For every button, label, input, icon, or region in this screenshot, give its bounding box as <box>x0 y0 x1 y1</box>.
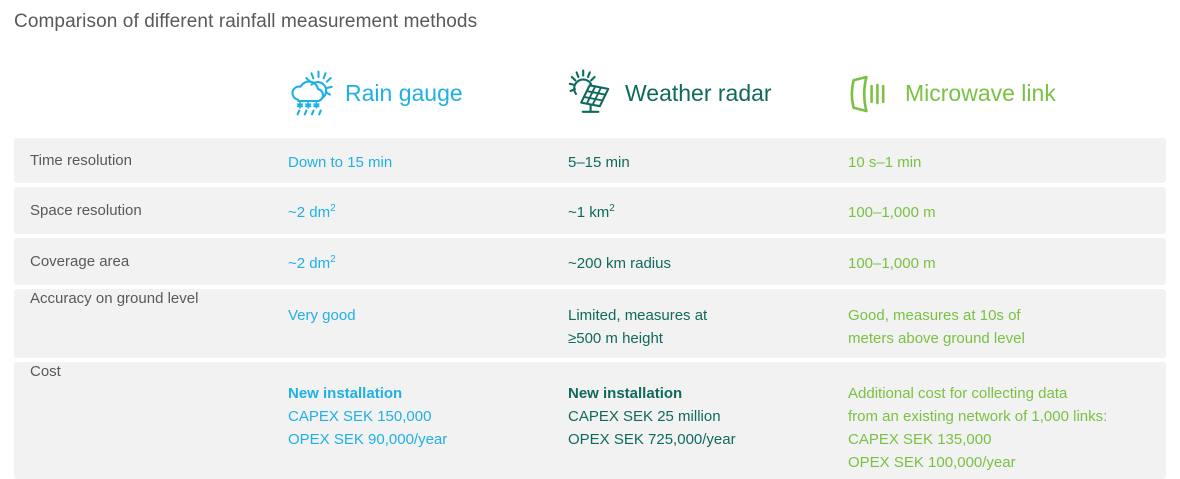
cell-line: Very good <box>288 304 564 327</box>
comparison-table-page: Comparison of different rainfall measure… <box>0 0 1180 478</box>
row-label: Coverage area <box>30 238 286 272</box>
page-title: Comparison of different rainfall measure… <box>14 10 477 34</box>
cell-line: CAPEX SEK 25 million <box>568 405 844 428</box>
cell-line: New installation <box>568 382 844 405</box>
cell-microwave-link: 100–1,000 m <box>848 187 1160 224</box>
column-header-microwave-link: Microwave link <box>845 56 1056 130</box>
cell-line: ≥500 m height <box>568 327 844 350</box>
column-header-weather-radar: Weather radar <box>565 56 772 130</box>
solar-panel-sun-icon <box>565 68 615 118</box>
cell-rain-gauge: Very good <box>288 289 564 327</box>
row-label: Cost <box>30 362 286 382</box>
column-header-label-weather-radar: Weather radar <box>625 80 772 107</box>
cell-line: ~2 dm2 <box>288 252 564 275</box>
table-row: Space resolution ~2 dm2 ~1 km2 100–1,000… <box>14 187 1166 234</box>
cell-weather-radar: Limited, measures at≥500 m height <box>568 289 844 350</box>
column-header-label-microwave-link: Microwave link <box>905 80 1056 107</box>
cell-line: CAPEX SEK 150,000 <box>288 405 564 428</box>
cell-line: ~2 dm2 <box>288 201 564 224</box>
column-header-label-rain-gauge: Rain gauge <box>345 80 463 107</box>
cell-line: ~200 km radius <box>568 252 844 275</box>
antenna-signal-icon <box>845 68 895 118</box>
cell-line: 100–1,000 m <box>848 252 1160 275</box>
sun-cloud-rain-icon <box>285 68 335 118</box>
column-header-rain-gauge: Rain gauge <box>285 56 463 130</box>
row-label: Space resolution <box>30 187 286 221</box>
cell-line: meters above ground level <box>848 327 1160 350</box>
table-row: Time resolution Down to 15 min 5–15 min … <box>14 138 1166 183</box>
cell-rain-gauge: New installationCAPEX SEK 150,000OPEX SE… <box>288 362 564 451</box>
cell-rain-gauge: ~2 dm2 <box>288 238 564 275</box>
table-row: Accuracy on ground level Very good Limit… <box>14 289 1166 358</box>
cell-line: 5–15 min <box>568 151 844 174</box>
cell-rain-gauge: Down to 15 min <box>288 138 564 174</box>
row-label: Time resolution <box>30 138 286 171</box>
column-header-row: Rain gauge <box>0 56 1180 130</box>
cell-line: Good, measures at 10s of <box>848 304 1160 327</box>
cell-microwave-link: Good, measures at 10s ofmeters above gro… <box>848 289 1160 350</box>
cell-line: Additional cost for collecting data <box>848 382 1160 405</box>
cell-line: New installation <box>288 382 564 405</box>
cell-line: 100–1,000 m <box>848 201 1160 224</box>
cell-microwave-link: 100–1,000 m <box>848 238 1160 275</box>
cell-weather-radar: 5–15 min <box>568 138 844 174</box>
cell-line: OPEX SEK 100,000/year <box>848 451 1160 474</box>
row-label: Accuracy on ground level <box>30 289 286 309</box>
cell-weather-radar: ~1 km2 <box>568 187 844 224</box>
cell-rain-gauge: ~2 dm2 <box>288 187 564 224</box>
cell-line: OPEX SEK 90,000/year <box>288 428 564 451</box>
cell-line: Down to 15 min <box>288 151 564 174</box>
cell-weather-radar: New installationCAPEX SEK 25 millionOPEX… <box>568 362 844 451</box>
table-row: Cost New installationCAPEX SEK 150,000OP… <box>14 362 1166 479</box>
cell-weather-radar: ~200 km radius <box>568 238 844 275</box>
comparison-table: Time resolution Down to 15 min 5–15 min … <box>14 138 1166 479</box>
cell-line: from an existing network of 1,000 links: <box>848 405 1160 428</box>
cell-line: ~1 km2 <box>568 201 844 224</box>
cell-microwave-link: Additional cost for collecting datafrom … <box>848 362 1160 474</box>
cell-microwave-link: 10 s–1 min <box>848 138 1160 174</box>
cell-line: 10 s–1 min <box>848 151 1160 174</box>
cell-line: Limited, measures at <box>568 304 844 327</box>
cell-line: CAPEX SEK 135,000 <box>848 428 1160 451</box>
table-row: Coverage area ~2 dm2 ~200 km radius 100–… <box>14 238 1166 285</box>
cell-line: OPEX SEK 725,000/year <box>568 428 844 451</box>
